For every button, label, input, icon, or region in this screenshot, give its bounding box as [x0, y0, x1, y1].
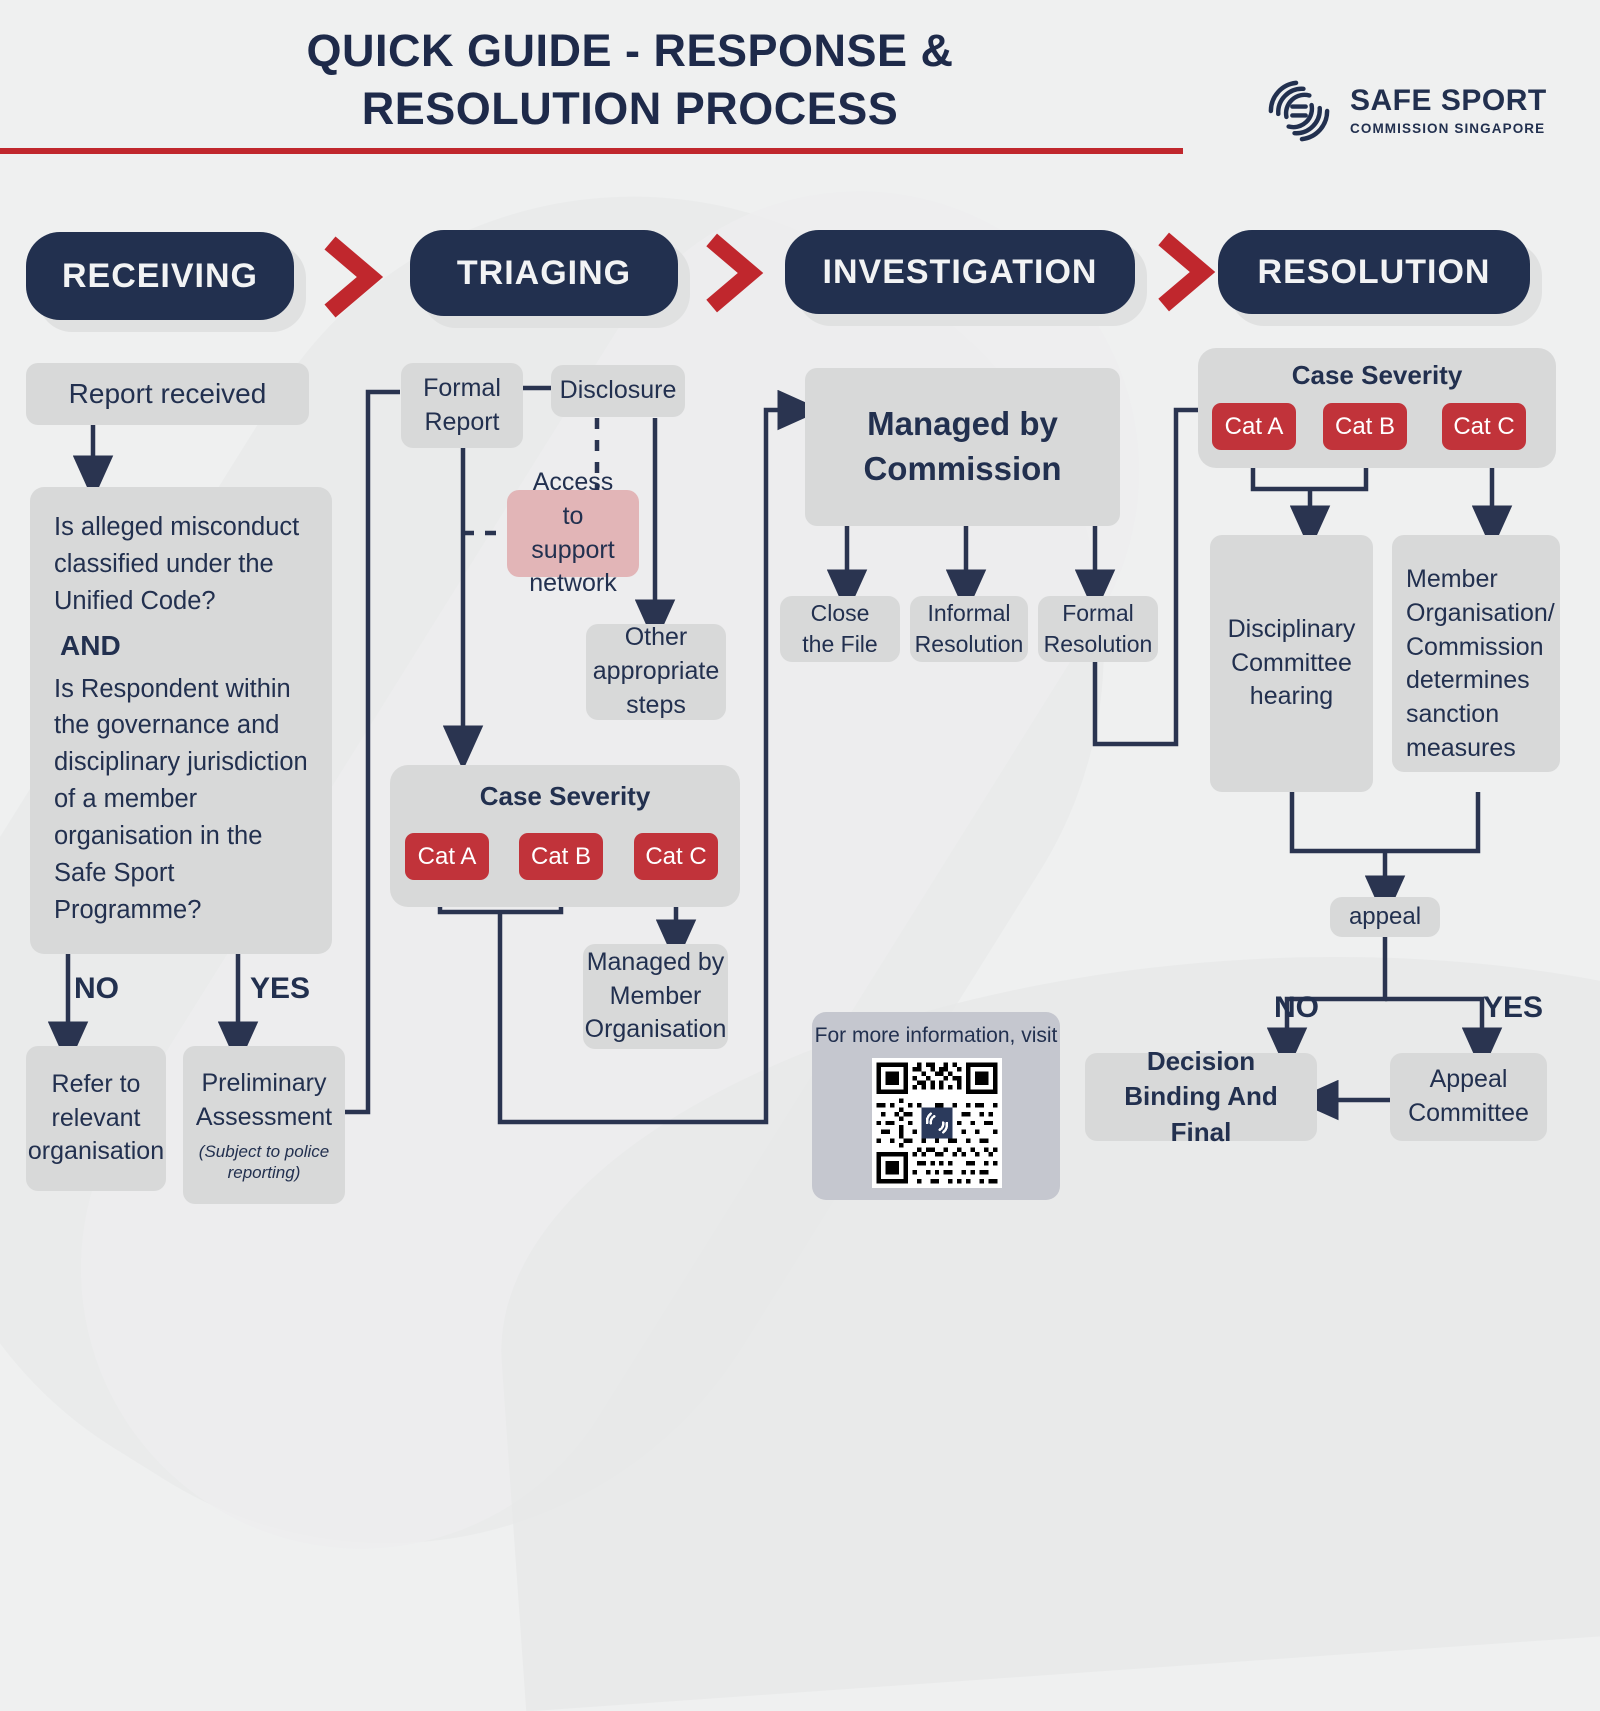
- box-disciplinary-committee-hearing[interactable]: Disciplinary Committee hearing: [1210, 535, 1373, 792]
- safe-sport-logo-icon: [1262, 74, 1336, 148]
- branch-label-yes-receiving: YES: [250, 972, 310, 1006]
- box-informal-resolution[interactable]: Informal Resolution: [910, 596, 1028, 662]
- chevron-icon-1: [318, 233, 388, 321]
- question-part-1: Is alleged misconduct classified under t…: [54, 513, 299, 615]
- logo-subtitle: COMMISSION SINGAPORE: [1350, 122, 1547, 136]
- page-title-line-2: RESOLUTION PROCESS: [362, 83, 899, 134]
- box-report-received[interactable]: Report received: [26, 363, 309, 425]
- cat-c-triaging-label: Cat C: [645, 843, 706, 871]
- box-managed-by-member-organisation[interactable]: Managed by Member Organisation: [583, 944, 728, 1049]
- box-preliminary-assessment[interactable]: Preliminary Assessment (Subject to polic…: [183, 1046, 345, 1204]
- stage-pill-resolution[interactable]: RESOLUTION: [1218, 230, 1530, 314]
- stage-pill-investigation-label: INVESTIGATION: [823, 253, 1098, 292]
- branch-label-yes-resolution: YES: [1483, 991, 1543, 1025]
- box-refer-label: Refer to relevant organisation: [28, 1068, 164, 1169]
- qr-code[interactable]: [872, 1058, 1002, 1188]
- stage-pill-receiving-label: RECEIVING: [62, 257, 258, 296]
- header-divider: [0, 148, 1183, 154]
- box-managed-by-member-organisation-label: Managed by Member Organisation: [585, 946, 727, 1047]
- stage-pill-resolution-label: RESOLUTION: [1258, 253, 1491, 292]
- box-other-steps-label: Other appropriate steps: [593, 621, 719, 722]
- question-and-label: AND: [60, 626, 308, 667]
- box-appeal[interactable]: appeal: [1330, 897, 1440, 937]
- box-refer-to-relevant-organisation[interactable]: Refer to relevant organisation: [26, 1046, 166, 1191]
- box-managed-by-commission[interactable]: Managed by Commission: [805, 368, 1120, 526]
- box-decision-binding-and-final[interactable]: Decision Binding And Final: [1085, 1053, 1317, 1141]
- stage-pill-triaging-label: TRIAGING: [457, 254, 631, 293]
- cat-a-triaging[interactable]: Cat A: [405, 833, 489, 880]
- cat-c-triaging[interactable]: Cat C: [634, 833, 718, 880]
- box-report-received-label: Report received: [69, 375, 267, 413]
- box-informal-resolution-label: Informal Resolution: [915, 598, 1024, 660]
- box-member-organisation-commission-sanction-label: Member Organisation/ Commission determin…: [1406, 563, 1555, 766]
- chevron-icon-2: [700, 229, 768, 317]
- branch-label-no-receiving: NO: [74, 972, 119, 1006]
- panel-case-severity-resolution-title: Case Severity: [1198, 360, 1556, 391]
- box-close-the-file-label: Close the File: [792, 598, 888, 660]
- page-title-line-1: QUICK GUIDE - RESPONSE &: [306, 25, 953, 76]
- box-decision-binding-and-final-label: Decision Binding And Final: [1097, 1044, 1305, 1149]
- cat-b-resolution[interactable]: Cat B: [1323, 403, 1407, 450]
- qr-caption: For more information, visit: [812, 1024, 1060, 1048]
- box-access-support-label: Access to support network: [519, 466, 627, 601]
- box-preliminary-note: (Subject to police reporting): [195, 1141, 333, 1184]
- cat-c-resolution-label: Cat C: [1453, 413, 1514, 441]
- box-formal-resolution[interactable]: Formal Resolution: [1038, 596, 1158, 662]
- box-disciplinary-committee-hearing-label: Disciplinary Committee hearing: [1222, 613, 1361, 714]
- box-appeal-committee[interactable]: Appeal Committee: [1390, 1053, 1547, 1141]
- cat-a-resolution[interactable]: Cat A: [1212, 403, 1296, 450]
- box-formal-resolution-label: Formal Resolution: [1044, 598, 1153, 660]
- box-member-organisation-commission-sanction[interactable]: Member Organisation/ Commission determin…: [1392, 535, 1560, 772]
- box-formal-report-label: Formal Report: [413, 372, 511, 440]
- cat-b-triaging-label: Cat B: [531, 843, 591, 871]
- box-disclosure-label: Disclosure: [560, 374, 677, 408]
- branch-label-no-resolution: NO: [1274, 991, 1319, 1025]
- box-access-to-support-network[interactable]: Access to support network: [507, 490, 639, 577]
- cat-b-resolution-label: Cat B: [1335, 413, 1395, 441]
- cat-a-resolution-label: Cat A: [1225, 413, 1284, 441]
- box-other-appropriate-steps[interactable]: Other appropriate steps: [586, 624, 726, 720]
- qr-code-image: [872, 1058, 1002, 1188]
- stage-pill-triaging[interactable]: TRIAGING: [410, 230, 678, 316]
- logo-title: SAFE SPORT: [1350, 86, 1547, 116]
- cat-c-resolution[interactable]: Cat C: [1442, 403, 1526, 450]
- box-close-the-file[interactable]: Close the File: [780, 596, 900, 662]
- page-title: QUICK GUIDE - RESPONSE & RESOLUTION PROC…: [100, 22, 1160, 137]
- box-disclosure[interactable]: Disclosure: [551, 365, 685, 417]
- box-appeal-label: appeal: [1349, 901, 1421, 933]
- panel-case-severity-triaging-title: Case Severity: [390, 781, 740, 812]
- safe-sport-logo: SAFE SPORT COMMISSION SINGAPORE: [1262, 68, 1552, 154]
- cat-b-triaging[interactable]: Cat B: [519, 833, 603, 880]
- box-appeal-committee-label: Appeal Committee: [1402, 1063, 1535, 1131]
- cat-a-triaging-label: Cat A: [418, 843, 477, 871]
- chevron-icon-3: [1152, 228, 1220, 316]
- stage-pill-investigation[interactable]: INVESTIGATION: [785, 230, 1135, 314]
- box-managed-by-commission-label: Managed by Commission: [817, 402, 1108, 491]
- stage-pill-receiving[interactable]: RECEIVING: [26, 232, 294, 320]
- box-eligibility-question[interactable]: Is alleged misconduct classified under t…: [30, 487, 332, 954]
- box-formal-report[interactable]: Formal Report: [401, 363, 523, 448]
- question-part-2: Is Respondent within the governance and …: [54, 675, 308, 925]
- box-preliminary-label: Preliminary Assessment: [195, 1067, 333, 1135]
